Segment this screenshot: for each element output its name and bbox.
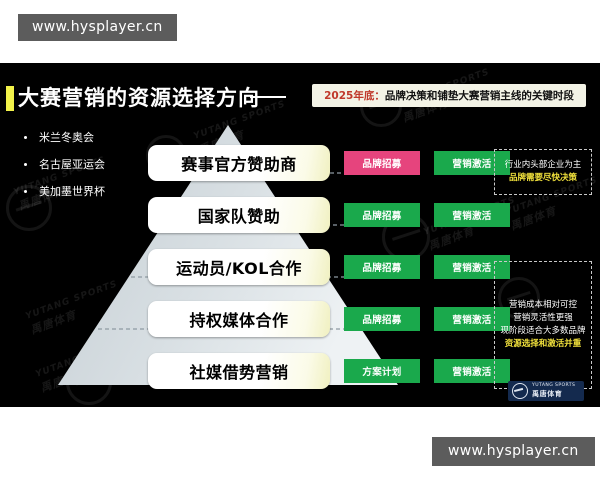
yutang-logo-icon xyxy=(512,383,528,399)
watermark-text-en: YUTANG SPORTS xyxy=(24,279,119,322)
table-row: 持权媒体合作 品牌招募 营销激活 xyxy=(148,301,510,337)
watermark-text: YUTANG SPORTS 禹唐体育 xyxy=(34,337,135,396)
table-row: 赛事官方赞助商 品牌招募 营销激活 xyxy=(148,145,510,181)
status-badge-recruit[interactable]: 品牌招募 xyxy=(344,255,420,279)
watermark-text-cn: 禹唐体育 xyxy=(38,348,135,396)
banner-main-text: 品牌决策和铺垫大赛营销主线的关键时段 xyxy=(385,88,574,103)
note-box-bottom: 营销成本相对可控 营销灵活性更强 现阶段适合大多数品牌 资源选择和激活并重 xyxy=(494,261,592,389)
status-badge-recruit[interactable]: 品牌招募 xyxy=(344,203,420,227)
list-item-label: 美加墨世界杯 xyxy=(39,183,105,199)
title-underline-rule xyxy=(250,96,286,98)
watermark-text: YUTANG SPORTS 禹唐体育 xyxy=(24,279,125,338)
note-box-top: 行业内头部企业为主 品牌需要尽快决策 xyxy=(494,149,592,195)
row-label[interactable]: 赛事官方赞助商 xyxy=(148,145,330,181)
list-item-label: 米兰冬奥会 xyxy=(39,129,94,145)
status-badge-recruit[interactable]: 品牌招募 xyxy=(344,151,420,175)
note-line: 营销成本相对可控 xyxy=(509,299,577,312)
bullet-dot-icon xyxy=(24,136,27,139)
table-row: 国家队赞助 品牌招募 营销激活 xyxy=(148,197,510,233)
list-item-label: 名古屋亚运会 xyxy=(39,156,105,172)
watermark-ring-icon xyxy=(66,359,112,405)
title-accent-bar xyxy=(6,86,14,111)
brand-logo-badge: YUTANG SPORTS 禹唐体育 xyxy=(508,381,584,401)
bullet-dot-icon xyxy=(24,163,27,166)
status-badge-plan[interactable]: 方案计划 xyxy=(344,359,420,383)
note-line: 行业内头部企业为主 xyxy=(505,159,582,172)
table-row: 运动员/KOL合作 品牌招募 营销激活 xyxy=(148,249,510,285)
brand-name-cn: 禹唐体育 xyxy=(532,391,575,398)
event-bullet-list: 米兰冬奥会 名古屋亚运会 美加墨世界杯 xyxy=(24,129,105,210)
page-title: 大赛营销的资源选择方向 xyxy=(18,82,260,112)
note-line: 现阶段适合大多数品牌 xyxy=(500,325,585,338)
bullet-dot-icon xyxy=(24,190,27,193)
note-line: 营销灵活性更强 xyxy=(513,312,573,325)
row-label[interactable]: 运动员/KOL合作 xyxy=(148,249,330,285)
watermark-text-en: YUTANG SPORTS xyxy=(34,337,129,380)
watermark-text-cn: 禹唐体育 xyxy=(28,290,125,338)
brand-logo-text: YUTANG SPORTS 禹唐体育 xyxy=(532,384,575,397)
row-label[interactable]: 社媒借势营销 xyxy=(148,353,330,389)
brand-name-en: YUTANG SPORTS xyxy=(532,384,575,389)
key-period-banner: 2025年底： 品牌决策和铺垫大赛营销主线的关键时段 xyxy=(312,84,586,107)
presentation-slide: YUTANG SPORTS 禹唐体育 YUTANG SPORTS 禹唐体育 YU… xyxy=(0,63,600,407)
top-watermark-bar: www.hysplayer.cn xyxy=(18,14,177,41)
row-label[interactable]: 持权媒体合作 xyxy=(148,301,330,337)
note-highlight: 品牌需要尽快决策 xyxy=(509,172,577,185)
screenshot-root: www.hysplayer.cn YUTANG SPORTS 禹唐体育 YUTA… xyxy=(0,0,600,480)
list-item: 美加墨世界杯 xyxy=(24,183,105,199)
status-badge-activation[interactable]: 营销激活 xyxy=(434,203,510,227)
status-badge-recruit[interactable]: 品牌招募 xyxy=(344,307,420,331)
table-row: 社媒借势营销 方案计划 营销激活 xyxy=(148,353,510,389)
note-highlight: 资源选择和激活并重 xyxy=(505,338,582,351)
banner-highlight-text: 2025年底： xyxy=(324,88,385,103)
list-item: 名古屋亚运会 xyxy=(24,156,105,172)
list-item: 米兰冬奥会 xyxy=(24,129,105,145)
row-label[interactable]: 国家队赞助 xyxy=(148,197,330,233)
bottom-watermark-bar: www.hysplayer.cn xyxy=(432,437,595,466)
